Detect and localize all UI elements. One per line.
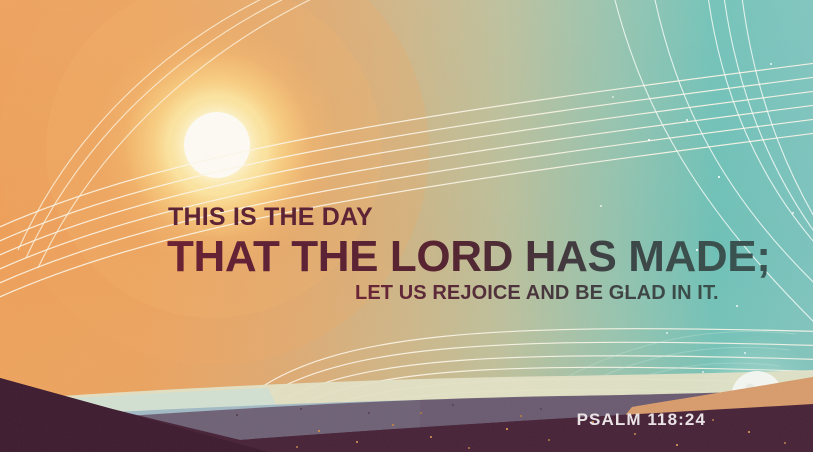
scripture-verse-graphic: THIS IS THE DAY THAT THE LORD HAS MADE; … [0, 0, 813, 452]
scenery-illustration [0, 0, 813, 452]
scripture-reference: PSALM 118:24 [577, 410, 706, 430]
grain-texture [0, 0, 813, 452]
